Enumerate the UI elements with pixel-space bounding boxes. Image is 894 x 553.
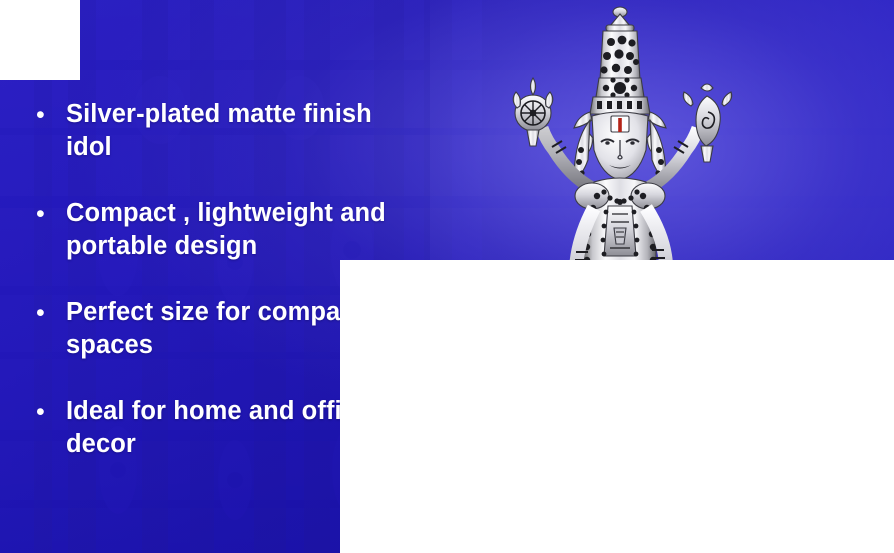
bullet-marker-icon: •: [30, 296, 66, 330]
bullet-text: Ideal for home and office decor: [66, 395, 416, 461]
list-item: • Ideal for home and office decor: [30, 395, 430, 461]
bullet-marker-icon: •: [30, 395, 66, 429]
list-item: • Perfect size for compact spaces: [30, 296, 430, 362]
balaji-idol-illustration: [470, 0, 770, 553]
bullet-text: Compact , lightweight and portable desig…: [66, 197, 416, 263]
bullet-text: Perfect size for compact spaces: [66, 296, 416, 362]
list-item: • Silver-plated matte finish idol: [30, 98, 430, 164]
bullet-marker-icon: •: [30, 98, 66, 132]
list-item: • Compact , lightweight and portable des…: [30, 197, 430, 263]
bullet-marker-icon: •: [30, 197, 66, 231]
feature-bullet-list: • Silver-plated matte finish idol • Comp…: [30, 98, 430, 461]
bullet-text: Silver-plated matte finish idol: [66, 98, 416, 164]
product-feature-banner: • Silver-plated matte finish idol • Comp…: [0, 0, 894, 553]
